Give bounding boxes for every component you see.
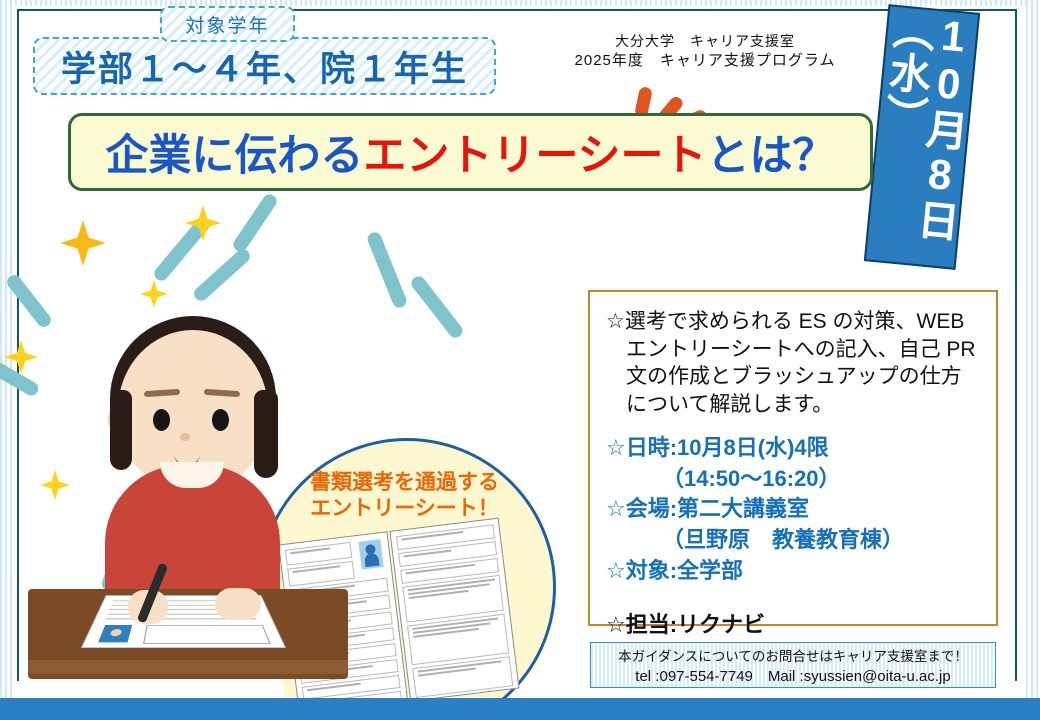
illustration-area: 書類選考を通過する エントリーシート！: [0, 190, 600, 720]
date-ribbon: 10月8日（水）: [864, 4, 980, 270]
contact-message: 本ガイダンスについてのお問合せはキャリア支援室まで！: [618, 645, 968, 665]
ray-line: [231, 192, 280, 255]
program-name: 2025年度 キャリア支援プログラム: [545, 51, 865, 71]
main-title-text: 企業に伝わるエントリーシートとは？: [105, 121, 835, 183]
event-datetime-sub: （14:50～16:20）: [606, 464, 982, 495]
target-grade-box: 学部１～４年、院１年生: [33, 37, 496, 95]
main-title-part2: エントリーシート: [363, 132, 706, 180]
person-hand-right: [215, 588, 261, 620]
event-staff: ☆担当:リクナビ: [606, 607, 982, 639]
sparkle-icon: [40, 470, 70, 500]
target-grade-badge: 対象学年: [160, 6, 295, 42]
event-venue-sub: （旦野原 教養教育棟）: [606, 525, 982, 556]
speech-bubble-line1: 書類選考を通過する: [262, 470, 547, 496]
person-nose: [180, 433, 190, 441]
event-datetime: ☆日時:10月8日(水)4限: [606, 433, 982, 464]
main-title-part3: とは？: [707, 132, 836, 180]
target-grade-badge-label: 対象学年: [185, 11, 269, 38]
speech-bubble-text: 書類選考を通過する エントリーシート！: [262, 470, 547, 523]
desk-edge: [28, 660, 348, 674]
bottom-accent-band: [0, 698, 1040, 720]
frame-stripe-top: [0, 0, 1040, 6]
poster-root: 学部１～４年、院１年生 対象学年 大分大学 キャリア支援室 2025年度 キャリ…: [0, 0, 1040, 720]
ray-line: [4, 272, 53, 329]
event-description: ☆選考で求められる ES の対策、WEB エントリーシートへの記入、自己 PR …: [606, 308, 982, 419]
person-eye-left: [153, 409, 170, 431]
ray-line: [191, 246, 252, 303]
organisation-header: 大分大学 キャリア支援室 2025年度 キャリア支援プログラム: [545, 32, 865, 71]
sparkle-icon: [140, 280, 168, 308]
person-hair-side-right: [254, 390, 278, 478]
person-eye-right: [212, 409, 229, 431]
sparkle-icon: [4, 340, 38, 374]
person-hair-side-left: [110, 390, 132, 470]
contact-details: tel :097-554-7749 Mail :syussien@oita-u.…: [635, 665, 950, 686]
sparkle-icon: [60, 220, 106, 266]
ray-line: [409, 274, 466, 341]
entry-sheet-photo-body-icon: [364, 553, 379, 568]
sparkle-icon: [185, 205, 221, 241]
organisation-name: 大分大学 キャリア支援室: [545, 32, 865, 51]
event-info-box: ☆選考で求められる ES の対策、WEB エントリーシートへの記入、自己 PR …: [588, 290, 998, 626]
event-details-blue: ☆日時:10月8日(水)4限 （14:50～16:20） ☆会場:第二大講義室 …: [606, 433, 982, 587]
entry-sheet-page-right: [389, 518, 519, 702]
event-description-text: ☆選考で求められる ES の対策、WEB エントリーシートへの記入、自己 PR …: [606, 308, 982, 419]
frame-stripe-right: [1026, 0, 1040, 700]
ray-line: [366, 230, 409, 309]
event-audience: ☆対象:全学部: [606, 556, 982, 587]
event-venue: ☆会場:第二大講義室: [606, 494, 982, 525]
main-title-part1: 企業に伝わる: [105, 132, 363, 180]
date-ribbon-text: 10月8日（水）: [868, 7, 976, 268]
main-title-box: 企業に伝わるエントリーシートとは？: [68, 113, 873, 191]
contact-box: 本ガイダンスについてのお問合せはキャリア支援室まで！ tel :097-554-…: [590, 642, 996, 688]
target-grade-text: 学部１～４年、院１年生: [61, 41, 468, 92]
